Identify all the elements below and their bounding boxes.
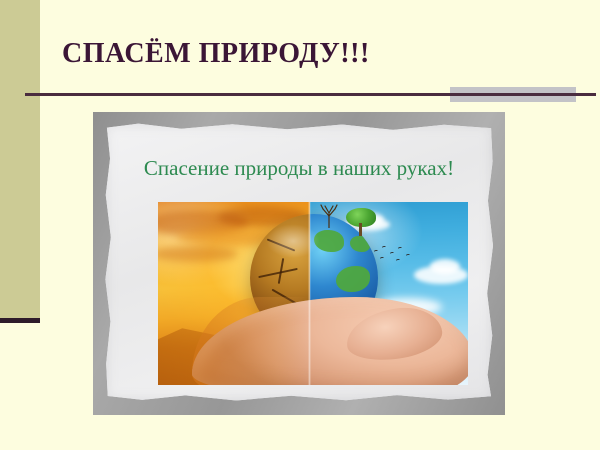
torn-paper-sheet: Спасение природы в наших руках! — [103, 122, 495, 403]
presentation-slide: СПАСЁМ ПРИРОДУ!!! Спасение природы в наш… — [0, 0, 600, 450]
slide-title: СПАСЁМ ПРИРОДУ!!! — [62, 37, 542, 71]
landmass-shape — [336, 266, 370, 292]
earth-in-hand-photo — [158, 202, 468, 385]
bird-icon — [382, 246, 387, 250]
photo-half-seam — [308, 202, 311, 385]
smoke-cloud-icon — [158, 246, 238, 262]
dead-tree-icon — [318, 204, 340, 228]
cloud-icon — [430, 259, 460, 274]
picture-caption: Спасение природы в наших руках! — [103, 155, 495, 181]
bird-icon — [390, 252, 395, 256]
green-tree-icon — [344, 208, 378, 238]
left-band-foot-rule — [0, 318, 40, 323]
bird-icon — [398, 247, 403, 251]
bird-icon — [406, 254, 411, 258]
landmass-shape — [350, 236, 370, 252]
picture-frame: Спасение природы в наших руках! — [93, 112, 505, 415]
left-decorative-band — [0, 0, 40, 318]
title-rule-line — [25, 93, 596, 96]
globe-highlight — [266, 224, 320, 258]
bird-icon — [396, 259, 401, 263]
tree-trunk — [359, 223, 362, 236]
bird-icon — [380, 257, 385, 261]
